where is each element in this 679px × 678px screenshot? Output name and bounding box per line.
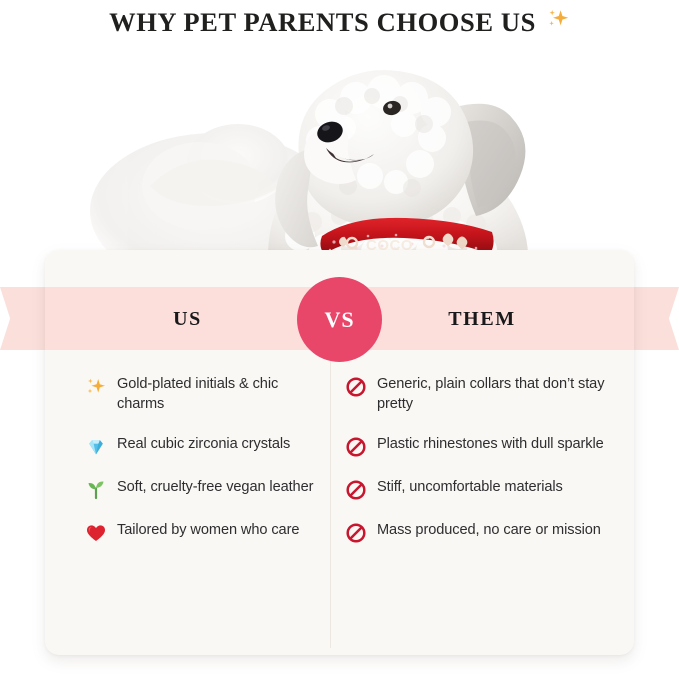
list-item-text: Plastic rhinestones with dull sparkle [377,435,604,455]
list-item: Plastic rhinestones with dull sparkle [345,435,615,457]
list-item-text: Real cubic zirconia crystals [117,435,290,455]
heart-icon [85,522,107,544]
ribbon-tail-left [0,287,46,350]
list-item-text: Gold-plated initials & chic charms [117,375,320,414]
column-divider [330,358,331,648]
prohibited-icon [345,522,367,544]
benefit-list-us: Gold-plated initials & chic charms Real … [85,375,320,564]
prohibited-icon [345,479,367,501]
vs-badge: VS [297,277,382,362]
list-item-text: Tailored by women who care [117,521,299,541]
dog-photo-illustration: COCO [0,36,679,264]
seedling-icon [85,479,107,501]
list-item-text: Mass produced, no care or mission [377,521,601,541]
sparkles-icon [85,376,107,398]
list-item-text: Stiff, uncomfortable materials [377,478,563,498]
gem-icon [85,436,107,458]
list-item: Gold-plated initials & chic charms [85,375,320,414]
column-heading-them-label: THEM [448,308,516,331]
hero-photo: COCO [0,36,679,264]
list-item: Real cubic zirconia crystals [85,435,320,457]
list-item: Stiff, uncomfortable materials [345,478,615,500]
list-item-text: Generic, plain collars that don’t stay p… [377,375,615,414]
prohibited-icon [345,376,367,398]
list-item: Generic, plain collars that don’t stay p… [345,375,615,414]
page-title-text: WHY PET PARENTS CHOOSE US [109,7,536,38]
column-heading-us: US [45,305,330,333]
list-item: Tailored by women who care [85,521,320,543]
drawback-list-them: Generic, plain collars that don’t stay p… [345,375,615,564]
sparkles-icon [546,7,570,35]
prohibited-icon [345,436,367,458]
list-item: Mass produced, no care or mission [345,521,615,543]
vs-badge-label: VS [324,307,354,333]
list-item: Soft, cruelty-free vegan leather [85,478,320,500]
column-heading-us-label: US [173,308,202,331]
ribbon-tail-right [633,287,679,350]
list-item-text: Soft, cruelty-free vegan leather [117,478,313,498]
